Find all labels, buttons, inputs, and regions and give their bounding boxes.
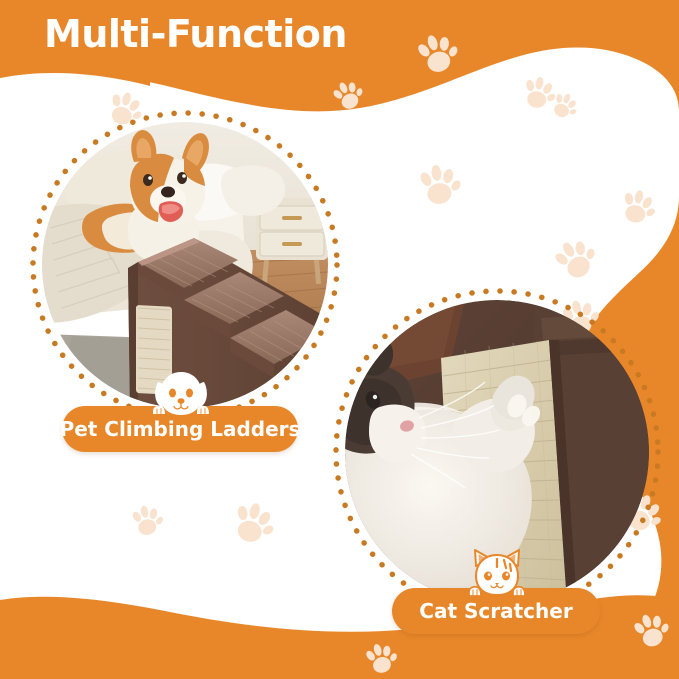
pill-label-text: Cat Scratcher [419,599,572,623]
photo-pet-climbing-ladders[interactable] [42,122,328,408]
dog-face-icon [151,369,211,417]
infographic-canvas: Multi-Function [0,0,679,679]
pill-label-text: Pet Climbing Ladders [60,417,301,441]
dog-scene-illustration [42,122,328,408]
cat-face-icon [468,546,526,598]
page-title: Multi-Function [44,12,347,56]
